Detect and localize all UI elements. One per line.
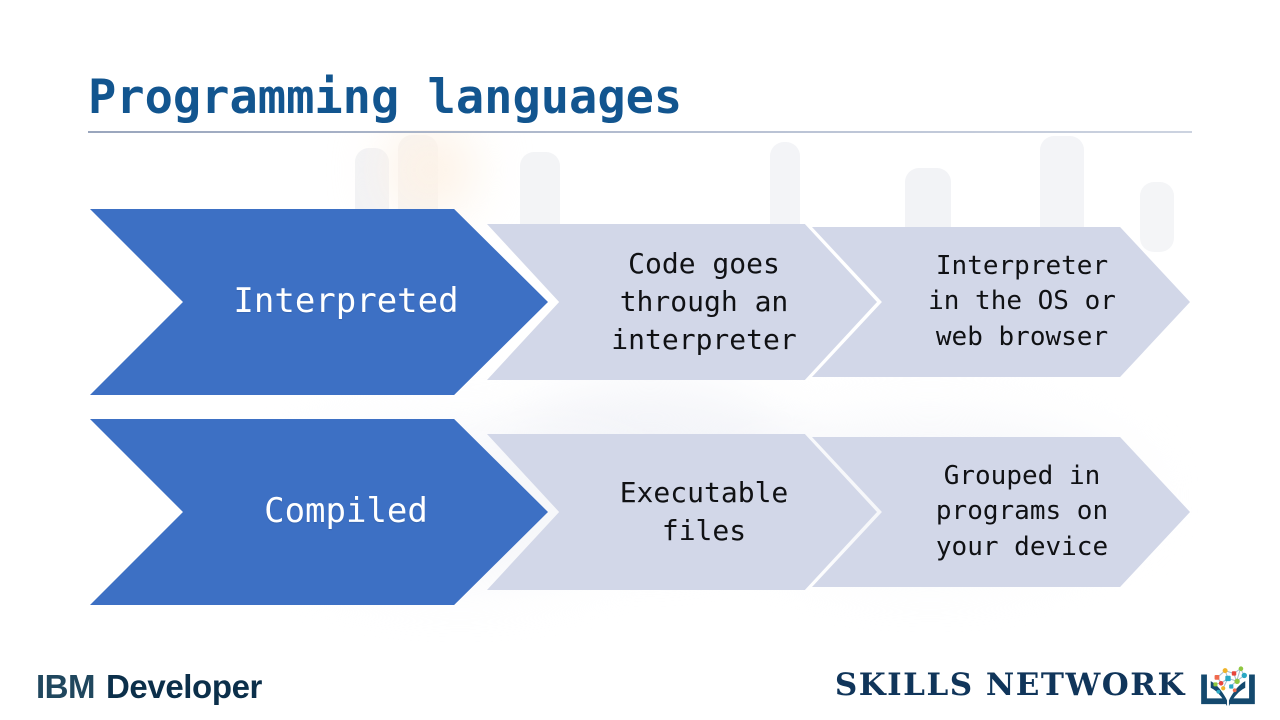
open-book-network-icon bbox=[1198, 662, 1258, 708]
page-title: Programming languages bbox=[88, 72, 1192, 124]
flow-label-compiled[interactable]: Compiled bbox=[90, 419, 548, 605]
skills-network-logo: SKILLS NETWORK bbox=[835, 662, 1258, 708]
flow-row-interpreted: Interpreted Code goes through an interpr… bbox=[0, 209, 1280, 395]
flow-step-text: Code goes through an interpreter bbox=[549, 245, 814, 358]
ibm-developer-logo: IBM Developer bbox=[36, 668, 262, 706]
flow-step-text: Grouped in programs on your device bbox=[878, 459, 1124, 564]
flow-row-compiled: Compiled Executable files Grouped in pro… bbox=[0, 419, 1280, 605]
ibm-developer-label: Developer bbox=[106, 668, 262, 706]
flow-label-text: Interpreted bbox=[149, 281, 488, 322]
slide-canvas: Programming languages Interpreted Code g… bbox=[0, 0, 1280, 720]
title-divider bbox=[88, 131, 1192, 133]
flow-label-text: Compiled bbox=[180, 491, 458, 532]
title-block: Programming languages bbox=[88, 72, 1192, 133]
flow-label-interpreted[interactable]: Interpreted bbox=[90, 209, 548, 395]
ibm-wordmark: IBM bbox=[36, 668, 95, 706]
skills-network-wordmark: SKILLS NETWORK bbox=[835, 667, 1186, 703]
flow-step-text: Executable files bbox=[558, 474, 807, 550]
flow-step-text: Interpreter in the OS or web browser bbox=[870, 249, 1132, 354]
slide-footer: IBM Developer SKILLS NETWORK bbox=[0, 640, 1280, 720]
